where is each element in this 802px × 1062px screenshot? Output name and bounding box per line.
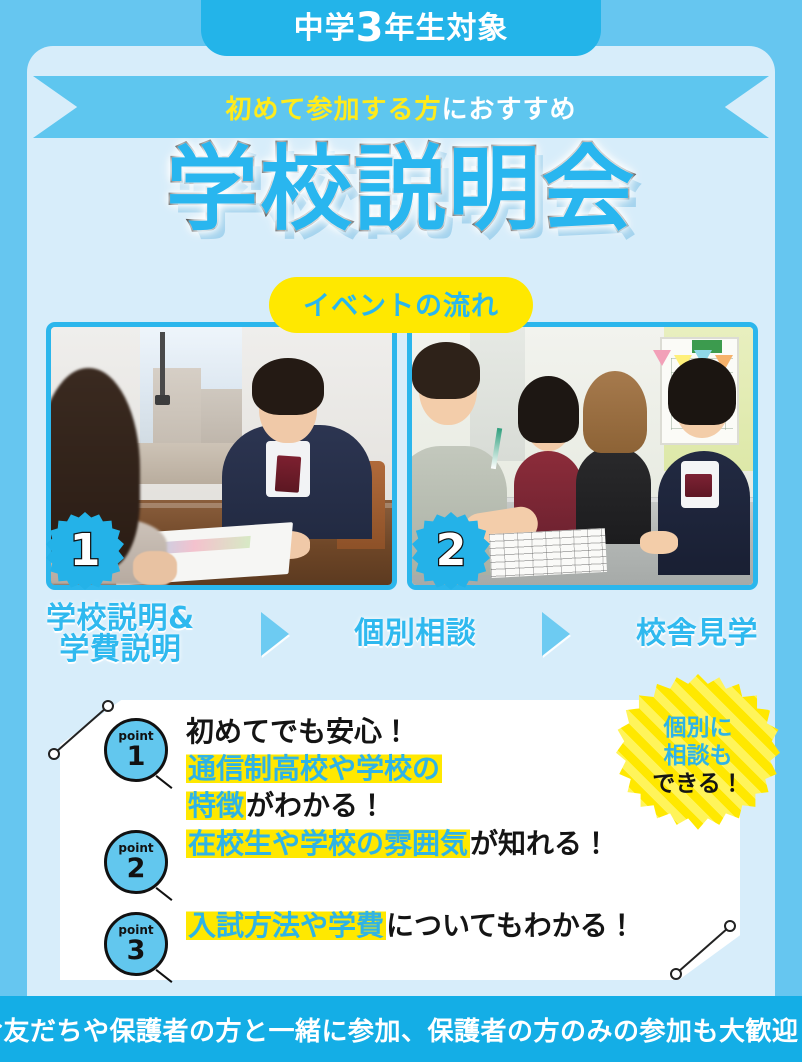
point-2-seg-2: が知れる！: [470, 827, 610, 860]
point-1-seg-3: 特徴: [186, 789, 246, 822]
ribbon-highlight-text: 初めて参加する方: [225, 89, 441, 126]
triangle-right-icon: [542, 612, 570, 656]
step-1-line-2: 学費説明: [46, 634, 195, 666]
callout-line-1: 個別に: [652, 714, 744, 742]
target-audience-text: 中学3年生対象: [294, 8, 509, 48]
point-1-seg-4: がわかる！: [246, 789, 386, 822]
point-row-2: point 2 在校生や学校の雰囲気が知れる！: [104, 826, 610, 894]
consultation-callout: 個別に 相談も できる！: [616, 674, 780, 838]
callout-line-2: 相談も: [652, 742, 744, 770]
bottom-banner: お友だちや保護者の方と一緒に参加、保護者の方のみの参加も大歓迎！: [0, 996, 802, 1062]
target-audience-grade: 3: [356, 5, 385, 51]
target-audience-badge: 中学3年生対象: [201, 0, 601, 56]
photo-badge-2-number: 2: [436, 529, 467, 573]
point-3-seg-2: についてもわかる！: [386, 909, 636, 942]
target-audience-suffix: 年生対象: [384, 11, 508, 46]
recommendation-ribbon: 初めて参加する方におすすめ: [33, 76, 769, 138]
step-2-label: 個別相談: [354, 618, 476, 650]
step-3-label: 校舎見学: [636, 618, 758, 650]
step-1-label: 学校説明& 学費説明: [46, 603, 195, 666]
point-2-number: 2: [127, 855, 146, 882]
point-row-1: point 1 初めてでも安心！ 通信制高校や学校の 特徴がわかる！: [104, 714, 442, 825]
point-2-badge: point 2: [104, 830, 168, 894]
step-1-line-1: 学校説明&: [46, 603, 195, 635]
ribbon-text: 初めて参加する方におすすめ: [33, 76, 769, 138]
point-2-seg-1: 在校生や学校の雰囲気: [186, 827, 470, 860]
consultation-callout-text: 個別に 相談も できる！: [652, 714, 744, 798]
event-poster: 中学3年生対象 初めて参加する方におすすめ 学校説明会 イベントの流れ: [0, 0, 802, 1062]
point-1-seg-1: 初めてでも安心！: [186, 715, 410, 748]
point-1-text: 初めてでも安心！ 通信制高校や学校の 特徴がわかる！: [186, 714, 442, 825]
steps-row: 学校説明& 学費説明 個別相談 校舎見学: [46, 598, 758, 670]
page-title: 学校説明会: [0, 142, 802, 239]
photo-badge-1: 1: [46, 512, 124, 590]
callout-line-3: できる！: [652, 770, 744, 798]
point-1-number: 1: [127, 743, 146, 770]
point-1-seg-2: 通信制高校や学校の: [186, 752, 442, 785]
point-3-seg-1: 入試方法や学費: [186, 909, 386, 942]
point-row-3: point 3 入試方法や学費についてもわかる！: [104, 908, 636, 976]
point-1-badge: point 1: [104, 718, 168, 782]
bottom-banner-text: お友だちや保護者の方と一緒に参加、保護者の方のみの参加も大歓迎！: [0, 1011, 802, 1048]
event-flow-label: イベントの流れ: [269, 277, 533, 333]
ribbon-rest-text: におすすめ: [442, 89, 577, 126]
point-3-badge: point 3: [104, 912, 168, 976]
photo-badge-1-number: 1: [70, 529, 101, 573]
point-2-text: 在校生や学校の雰囲気が知れる！: [186, 826, 610, 863]
triangle-right-icon: [261, 612, 289, 656]
photo-badge-2: 2: [412, 512, 490, 590]
point-3-number: 3: [127, 937, 146, 964]
point-3-text: 入試方法や学費についてもわかる！: [186, 908, 636, 945]
target-audience-prefix: 中学: [294, 11, 356, 46]
photo-row: [46, 322, 758, 590]
